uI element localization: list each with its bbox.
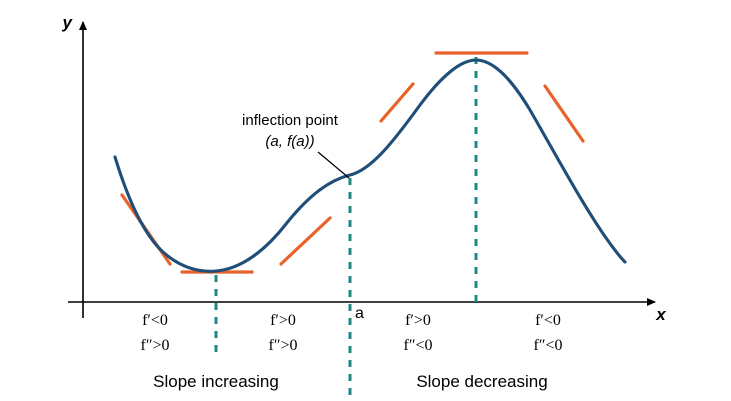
x-axis-label: x: [655, 305, 667, 324]
inflection-label-line2: (a, f(a)): [265, 133, 314, 150]
figure-canvas: x y inflection point (a, f(a)): [0, 0, 731, 401]
inflection-point-figure: x y inflection point (a, f(a)): [0, 0, 731, 401]
tangent-inflection: [381, 84, 413, 121]
region-2-first-derivative: f′>0: [270, 312, 296, 329]
region-2-second-derivative: f″>0: [268, 337, 297, 354]
x-value-a-label: a: [355, 305, 364, 322]
slope-increasing-label: Slope increasing: [153, 372, 279, 391]
region-1-first-derivative: f′<0: [142, 312, 168, 329]
dashed-guides-group: [216, 57, 476, 397]
inflection-annotation-group: inflection point (a, f(a)): [242, 112, 349, 178]
inflection-leader-line: [318, 152, 349, 178]
inflection-label-line1: inflection point: [242, 112, 339, 129]
y-axis-label: y: [62, 13, 74, 32]
region-3-second-derivative: f″<0: [403, 337, 432, 354]
slope-decreasing-label: Slope decreasing: [416, 372, 547, 391]
region-3-first-derivative: f′>0: [405, 312, 431, 329]
tangent-increasing-concave-up: [281, 218, 330, 264]
region-4-first-derivative: f′<0: [535, 312, 561, 329]
region-1-second-derivative: f″>0: [140, 337, 169, 354]
region-4-second-derivative: f″<0: [533, 337, 562, 354]
tangent-decreasing-concave-down: [545, 86, 583, 141]
